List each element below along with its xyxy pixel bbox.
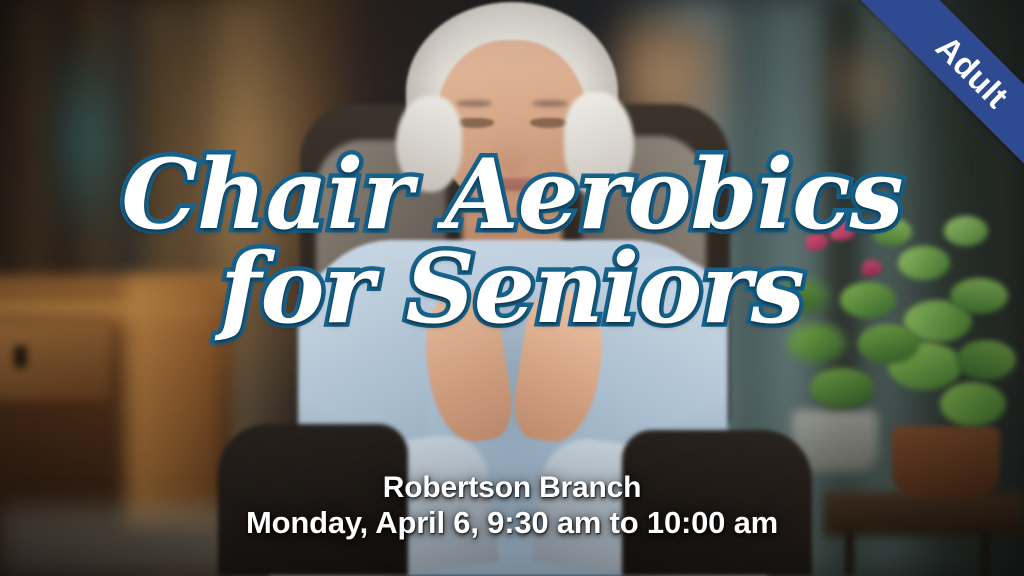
closed-eye-left (456, 118, 494, 128)
eyebrow-right (532, 100, 568, 107)
event-poster: Chair Aerobics for Seniors Robertson Bra… (0, 0, 1024, 576)
nose (496, 132, 528, 174)
armchair-arm-left (218, 424, 408, 576)
ribbon-band: Adult (846, 0, 1024, 198)
audience-ribbon: Adult (794, 0, 1024, 230)
ribbon-label: Adult (928, 28, 1016, 116)
closed-eye-right (530, 118, 568, 128)
hair-wave-right (564, 92, 634, 196)
armchair-arm-right (622, 430, 812, 576)
mouth (484, 178, 540, 191)
eyebrow-left (456, 100, 492, 107)
hair-wave-left (396, 96, 462, 192)
